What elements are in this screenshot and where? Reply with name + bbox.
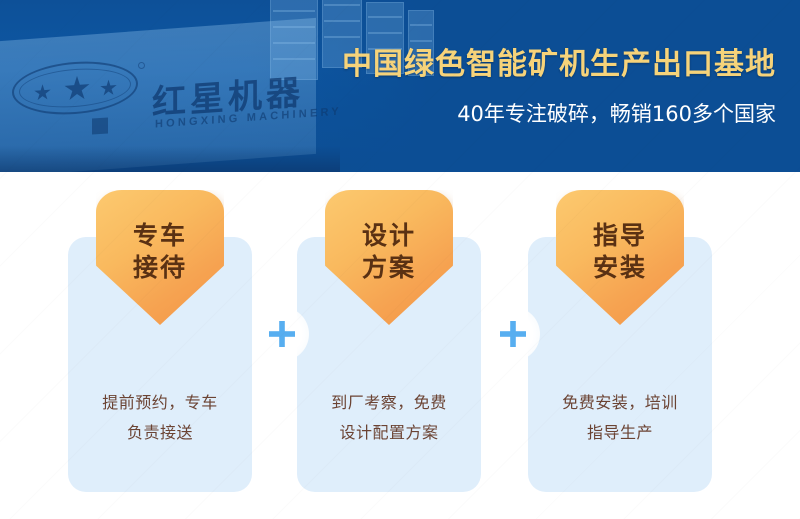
service-caption: 免费安装，培训 指导生产 (528, 388, 712, 448)
banner-text-group: 中国绿色智能矿机生产出口基地 40年专注破碎，畅销160多个国家 (0, 0, 800, 172)
banner-subheadline: 40年专注破碎，畅销160多个国家 (457, 101, 776, 127)
caption-line1: 免费安装，培训 (528, 388, 712, 418)
promo-page: 红星机器 HONGXING MACHINERY 中国绿色智能矿机生产出口基地 4… (0, 0, 800, 519)
service-cards-section: 专车 接待 设计 方案 指导 安装 提前预约，专车 负责接送 到厂考察，免费 设… (0, 172, 800, 519)
header-banner: 红星机器 HONGXING MACHINERY 中国绿色智能矿机生产出口基地 4… (0, 0, 800, 172)
service-caption: 提前预约，专车 负责接送 (68, 388, 252, 448)
caption-line2: 负责接送 (68, 418, 252, 448)
plus-connector-icon (255, 307, 309, 361)
banner-headline: 中国绿色智能矿机生产出口基地 (342, 48, 776, 82)
badge-label-line2: 方案 (362, 253, 416, 283)
badge-label-line2: 接待 (133, 253, 187, 283)
badge-label-line2: 安装 (593, 253, 647, 283)
badge-label-line1: 专车 (133, 221, 187, 251)
caption-line2: 指导生产 (528, 418, 712, 448)
plus-connector-icon (486, 307, 540, 361)
caption-line1: 到厂考察，免费 (297, 388, 481, 418)
badge-label-line1: 指导 (593, 221, 647, 251)
caption-line2: 设计配置方案 (297, 418, 481, 448)
caption-line1: 提前预约，专车 (68, 388, 252, 418)
service-caption: 到厂考察，免费 设计配置方案 (297, 388, 481, 448)
badge-label-line1: 设计 (362, 221, 416, 251)
